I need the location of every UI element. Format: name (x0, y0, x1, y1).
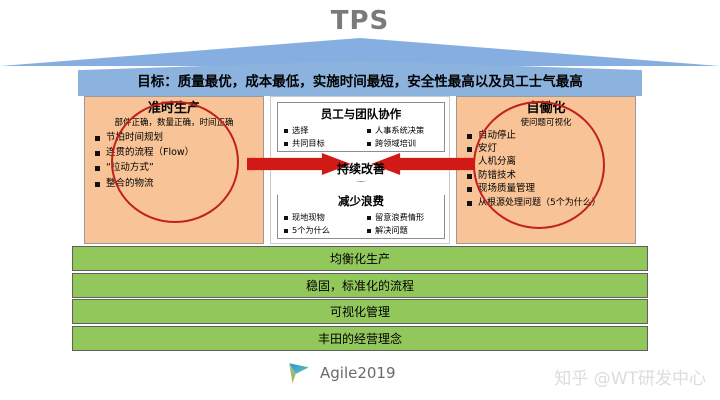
square-bullet-icon (467, 134, 472, 139)
page-title: TPS (0, 6, 720, 36)
list-item: 节拍时间规划 (95, 133, 263, 144)
roof-goal-banner: 目标：质量最优，成本最低，实施时间最短，安全性最高以及员工士气最高 (78, 61, 642, 96)
pillars-row: 准时生产 部件正确，数量正确，时间正确 节拍时间规划 连贯的流程（Flow） “… (84, 96, 636, 244)
square-bullet-icon (367, 229, 371, 233)
list-item: 5个为什么 (284, 226, 361, 235)
center-kaizen-panel: 员工与团队协作 选择 共同目标 人事系统决策 跨领域培训 持续改善 减 (270, 96, 450, 244)
list-item-label: 从根源处理问题（5个为什么） (478, 198, 601, 208)
people-teamwork-items: 选择 共同目标 人事系统决策 跨领域培训 (278, 126, 444, 152)
list-item: 共同目标 (284, 139, 361, 148)
reduce-waste-shape: 减少浪费 现地现物 5个为什么 留意浪费情形 解决问题 (277, 181, 445, 239)
reduce-waste-box: 减少浪费 现地现物 5个为什么 留意浪费情形 解决问题 (277, 181, 445, 239)
agile-play-logo-icon (286, 360, 312, 386)
list-item: 人机分离 (467, 157, 635, 168)
square-bullet-icon (467, 201, 472, 206)
list-item: 现地现物 (284, 213, 361, 222)
square-bullet-icon (284, 129, 288, 133)
list-item-label: 跨领域培训 (375, 139, 416, 148)
square-bullet-icon (367, 142, 371, 146)
square-bullet-icon (367, 129, 371, 133)
list-item-label: “拉动方式” (106, 163, 154, 174)
list-item: “拉动方式” (95, 163, 263, 174)
square-bullet-icon (467, 147, 472, 152)
list-item-label: 解决问题 (375, 226, 408, 235)
pillar-jidoka: 自働化 使问题可视化 自动停止 安灯 人机分离 防错技术 现场质量管理 从根源处… (456, 96, 636, 244)
people-teamwork-col-right: 人事系统决策 跨领域培训 (361, 126, 444, 152)
kaizen-label: 持续改善 (271, 155, 451, 181)
list-item: 自动停止 (467, 131, 635, 142)
people-teamwork-title: 员工与团队协作 (278, 106, 444, 122)
list-item: 留意浪费情形 (367, 213, 444, 222)
footer-logo-label: Agile2019 (320, 364, 396, 382)
pillar-jit-bullets: 节拍时间规划 连贯的流程（Flow） “拉动方式” 整合的物流 (85, 133, 263, 190)
people-teamwork-col-left: 选择 共同目标 (278, 126, 361, 152)
list-item: 连贯的流程（Flow） (95, 148, 263, 159)
people-teamwork-box: 员工与团队协作 选择 共同目标 人事系统决策 跨领域培训 (277, 102, 445, 152)
square-bullet-icon (95, 151, 100, 156)
pillar-jit-subtitle: 部件正确，数量正确，时间正确 (85, 119, 263, 128)
list-item: 从根源处理问题（5个为什么） (467, 198, 635, 208)
square-bullet-icon (467, 187, 472, 192)
square-bullet-icon (367, 216, 371, 220)
pillar-jidoka-bullets: 自动停止 安灯 人机分离 防错技术 现场质量管理 从根源处理问题（5个为什么） (457, 131, 635, 208)
foundation-bars: 均衡化生产 稳固，标准化的流程 可视化管理 丰田的经营理念 (72, 246, 648, 352)
reduce-waste-items: 现地现物 5个为什么 留意浪费情形 解决问题 (278, 213, 444, 239)
square-bullet-icon (284, 216, 288, 220)
pillar-jit-title: 准时生产 (85, 102, 263, 116)
slide-canvas: TPS 目标：质量最优，成本最低，实施时间最短，安全性最高以及员工士气最高 准时… (0, 0, 720, 400)
reduce-waste-col-right: 留意浪费情形 解决问题 (361, 213, 444, 239)
list-item: 跨领域培训 (367, 139, 444, 148)
list-item-label: 人机分离 (478, 157, 516, 168)
square-bullet-icon (95, 182, 100, 187)
square-bullet-icon (284, 142, 288, 146)
list-item-label: 选择 (292, 126, 308, 135)
watermark: 知乎 @WT研发中心 (554, 364, 706, 389)
list-item-label: 现场质量管理 (478, 184, 535, 195)
list-item-label: 防错技术 (478, 171, 516, 182)
foundation-bar: 丰田的经营理念 (72, 326, 648, 351)
list-item: 解决问题 (367, 226, 444, 235)
pillar-jidoka-title: 自働化 (457, 102, 635, 116)
foundation-bar: 可视化管理 (72, 299, 648, 324)
list-item: 现场质量管理 (467, 184, 635, 195)
foundation-bar: 均衡化生产 (72, 246, 648, 271)
reduce-waste-title: 减少浪费 (278, 193, 444, 209)
list-item-label: 自动停止 (478, 131, 516, 142)
list-item: 整合的物流 (95, 179, 263, 190)
list-item-label: 节拍时间规划 (106, 133, 163, 144)
square-bullet-icon (95, 166, 100, 171)
list-item: 人事系统决策 (367, 126, 444, 135)
reduce-waste-col-left: 现地现物 5个为什么 (278, 213, 361, 239)
square-bullet-icon (95, 136, 100, 141)
list-item-label: 连贯的流程（Flow） (106, 148, 194, 159)
list-item-label: 整合的物流 (106, 179, 154, 190)
house-roof: 目标：质量最优，成本最低，实施时间最短，安全性最高以及员工士气最高 (0, 38, 720, 96)
list-item: 安灯 (467, 144, 635, 155)
foundation-bar: 稳固，标准化的流程 (72, 273, 648, 298)
pillar-jit: 准时生产 部件正确，数量正确，时间正确 节拍时间规划 连贯的流程（Flow） “… (84, 96, 264, 244)
list-item: 选择 (284, 126, 361, 135)
list-item-label: 5个为什么 (292, 226, 330, 235)
square-bullet-icon (284, 229, 288, 233)
roof-goal-text: 目标：质量最优，成本最低，实施时间最短，安全性最高以及员工士气最高 (137, 76, 583, 97)
list-item-label: 共同目标 (292, 139, 325, 148)
list-item-label: 现地现物 (292, 213, 325, 222)
pillar-jidoka-subtitle: 使问题可视化 (457, 119, 635, 128)
square-bullet-icon (467, 174, 472, 179)
footer-logo: Agile2019 (286, 360, 396, 386)
list-item: 防错技术 (467, 171, 635, 182)
list-item-label: 人事系统决策 (375, 126, 424, 135)
list-item-label: 安灯 (478, 144, 497, 155)
list-item-label: 留意浪费情形 (375, 213, 424, 222)
